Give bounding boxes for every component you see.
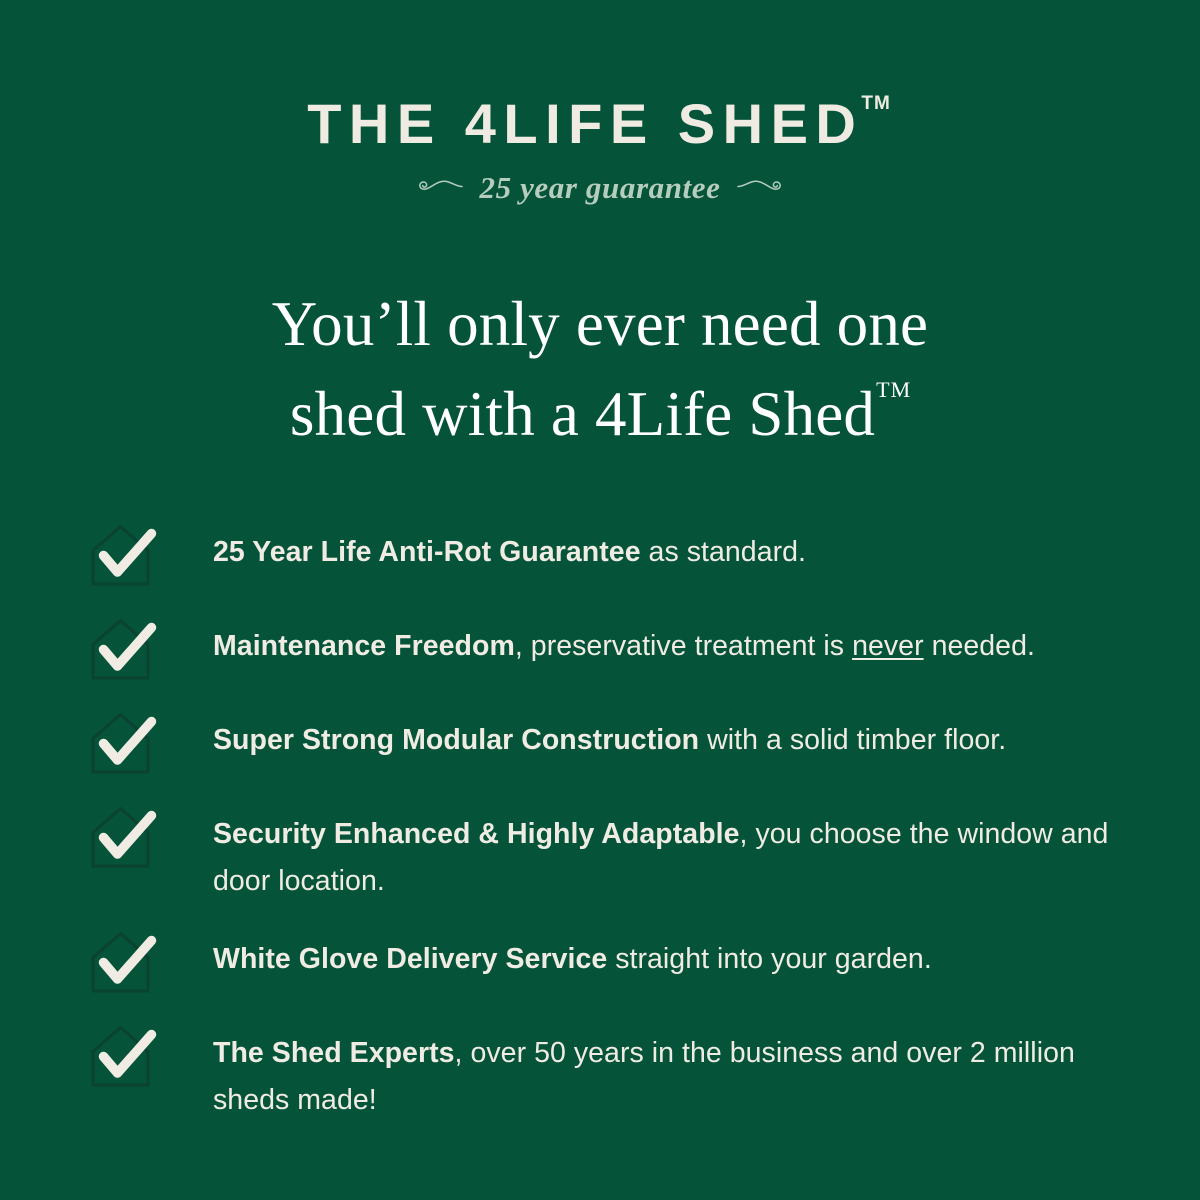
trademark-symbol: TM [876, 377, 911, 402]
shed-house-check-icon [88, 616, 158, 684]
list-item-text: White Glove Delivery Service straight in… [213, 931, 932, 983]
list-item: Super Strong Modular Construction with a… [88, 712, 1128, 780]
promo-poster: THE 4LIFE SHEDTM 25 year guarantee You’l… [0, 0, 1200, 1200]
brand-title: THE 4LIFE SHEDTM [307, 96, 893, 152]
headline-line-1: You’ll only ever need one [0, 283, 1200, 365]
shed-house-check-icon [88, 929, 158, 997]
list-item-lead: The Shed Experts [213, 1037, 455, 1069]
list-item: Security Enhanced & Highly Adaptable, yo… [88, 806, 1128, 905]
list-item: The Shed Experts, over 50 years in the b… [88, 1025, 1128, 1124]
list-item-rest: as standard. [641, 536, 806, 568]
feature-checklist: 25 Year Life Anti-Rot Guarantee as stand… [88, 524, 1128, 1124]
list-item-rest: straight into your garden. [607, 943, 932, 975]
shed-house-check-icon [88, 804, 158, 872]
brand-tagline-row: 25 year guarantee [0, 172, 1200, 203]
list-item-lead: 25 Year Life Anti-Rot Guarantee [213, 536, 641, 568]
list-item-rest: with a solid timber floor. [699, 724, 1006, 756]
list-item-text: Security Enhanced & Highly Adaptable, yo… [213, 806, 1128, 905]
brand-name: THE 4LIFE SHED [307, 92, 863, 155]
list-item-text: Super Strong Modular Construction with a… [213, 712, 1006, 764]
shed-house-check-icon [88, 522, 158, 590]
list-item-lead: Maintenance Freedom [213, 630, 515, 662]
swirl-flourish-icon [736, 176, 782, 199]
list-item-rest: , preservative treatment is [515, 630, 852, 662]
trademark-symbol: TM [861, 93, 890, 114]
list-item-text: 25 Year Life Anti-Rot Guarantee as stand… [213, 524, 806, 576]
brand-lockup: THE 4LIFE SHEDTM 25 year guarantee [0, 96, 1200, 203]
list-item-emphasis: never [852, 630, 924, 662]
list-item: 25 Year Life Anti-Rot Guarantee as stand… [88, 524, 1128, 592]
shed-house-check-icon [88, 1023, 158, 1091]
brand-tagline: 25 year guarantee [480, 172, 721, 203]
headline-line-2: shed with a 4Life ShedTM [0, 365, 1200, 455]
list-item: Maintenance Freedom, preservative treatm… [88, 618, 1128, 686]
headline-line-2-text: shed with a 4Life Shed [290, 379, 875, 449]
page-title: You’ll only ever need one shed with a 4L… [0, 283, 1200, 455]
list-item-text: The Shed Experts, over 50 years in the b… [213, 1025, 1128, 1124]
list-item-lead: Super Strong Modular Construction [213, 724, 699, 756]
list-item-lead: White Glove Delivery Service [213, 943, 607, 975]
list-item-lead: Security Enhanced & Highly Adaptable [213, 818, 740, 850]
list-item-tail: needed. [924, 630, 1035, 662]
shed-house-check-icon [88, 710, 158, 778]
swirl-flourish-icon [418, 176, 464, 199]
list-item: White Glove Delivery Service straight in… [88, 931, 1128, 999]
list-item-text: Maintenance Freedom, preservative treatm… [213, 618, 1035, 670]
